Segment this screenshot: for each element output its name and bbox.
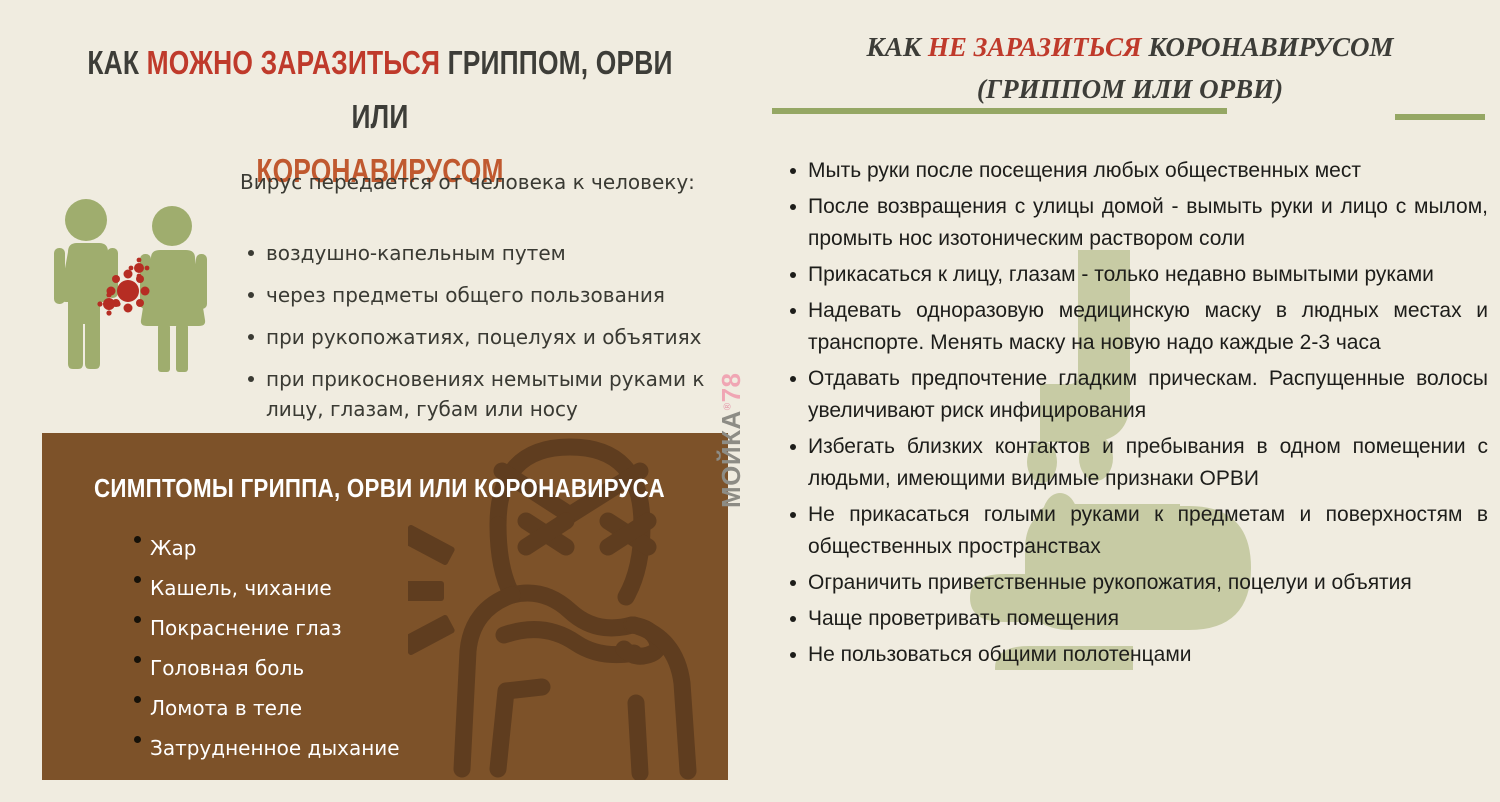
header-rule-long <box>772 108 1227 114</box>
list-item: Не пользоваться общими полотенцами <box>788 639 1488 671</box>
left-title-part1: КАК <box>87 44 146 81</box>
list-item: Головная боль <box>130 655 650 682</box>
list-item: воздушно-капельным путем <box>248 238 738 268</box>
list-item: Избегать близких контактов и пребывания … <box>788 431 1488 495</box>
right-title-line2: (ГРИППОМ ИЛИ ОРВИ) <box>780 68 1480 110</box>
right-title: КАК НЕ ЗАРАЗИТЬСЯ КОРОНАВИРУСОМ (ГРИППОМ… <box>780 26 1480 110</box>
left-column: КАК МОЖНО ЗАРАЗИТЬСЯ ГРИППОМ, ОРВИ ИЛИ К… <box>0 0 760 802</box>
list-item: Чаще проветривать помещения <box>788 603 1488 635</box>
list-item: при рукопожатиях, поцелуях и объятиях <box>248 322 738 352</box>
right-title-part1: КАК <box>867 32 928 62</box>
list-item: Надевать одноразовую медицинскую маску в… <box>788 295 1488 359</box>
list-item: Ограничить приветственные рукопожатия, п… <box>788 567 1488 599</box>
list-item: Отдавать предпочтение гладким прическам.… <box>788 363 1488 427</box>
symptoms-heading: СИМПТОМЫ ГРИППА, ОРВИ ИЛИ КОРОНАВИРУСА <box>94 473 610 504</box>
transmission-list: воздушно-капельным путем через предметы … <box>248 238 738 436</box>
right-column: КАК НЕ ЗАРАЗИТЬСЯ КОРОНАВИРУСОМ (ГРИППОМ… <box>760 0 1500 802</box>
prevention-list: Мыть руки после посещения любых обществе… <box>788 155 1488 675</box>
two-people-virus-transmission-icon <box>52 196 222 376</box>
list-item: Жар <box>130 535 650 562</box>
header-rule-short <box>1395 114 1485 120</box>
infographic-poster: КАК МОЖНО ЗАРАЗИТЬСЯ ГРИППОМ, ОРВИ ИЛИ К… <box>0 0 1500 802</box>
moyka78-watermark: МОЙКА®78 <box>716 378 746 508</box>
left-title-highlight: МОЖНО ЗАРАЗИТЬСЯ <box>147 44 441 81</box>
list-item: Прикасаться к лицу, глазам - только неда… <box>788 259 1488 291</box>
list-item: при прикосновениях немытыми руками к лиц… <box>248 364 738 424</box>
symptoms-panel: СИМПТОМЫ ГРИППА, ОРВИ ИЛИ КОРОНАВИРУСА Ж… <box>42 433 728 780</box>
watermark-brand: МОЙКА <box>716 410 746 508</box>
symptoms-list: Жар Кашель, чихание Покраснение глаз Гол… <box>130 535 650 775</box>
list-item: Кашель, чихание <box>130 575 650 602</box>
right-title-highlight: НЕ ЗАРАЗИТЬСЯ <box>928 32 1142 62</box>
registered-icon: ® <box>722 402 733 410</box>
list-item: Мыть руки после посещения любых обществе… <box>788 155 1488 187</box>
watermark-number: 78 <box>716 372 746 402</box>
list-item: После возвращения с улицы домой - вымыть… <box>788 191 1488 255</box>
list-item: Не прикасаться голыми руками к предметам… <box>788 499 1488 563</box>
right-title-part3: КОРОНАВИРУСОМ <box>1142 32 1394 62</box>
list-item: Ломота в теле <box>130 695 650 722</box>
list-item: Покраснение глаз <box>130 615 650 642</box>
list-item: через предметы общего пользования <box>248 280 738 310</box>
transmission-intro: Вирус передается от человека к человеку: <box>240 170 740 194</box>
list-item: Затрудненное дыхание <box>130 735 650 762</box>
